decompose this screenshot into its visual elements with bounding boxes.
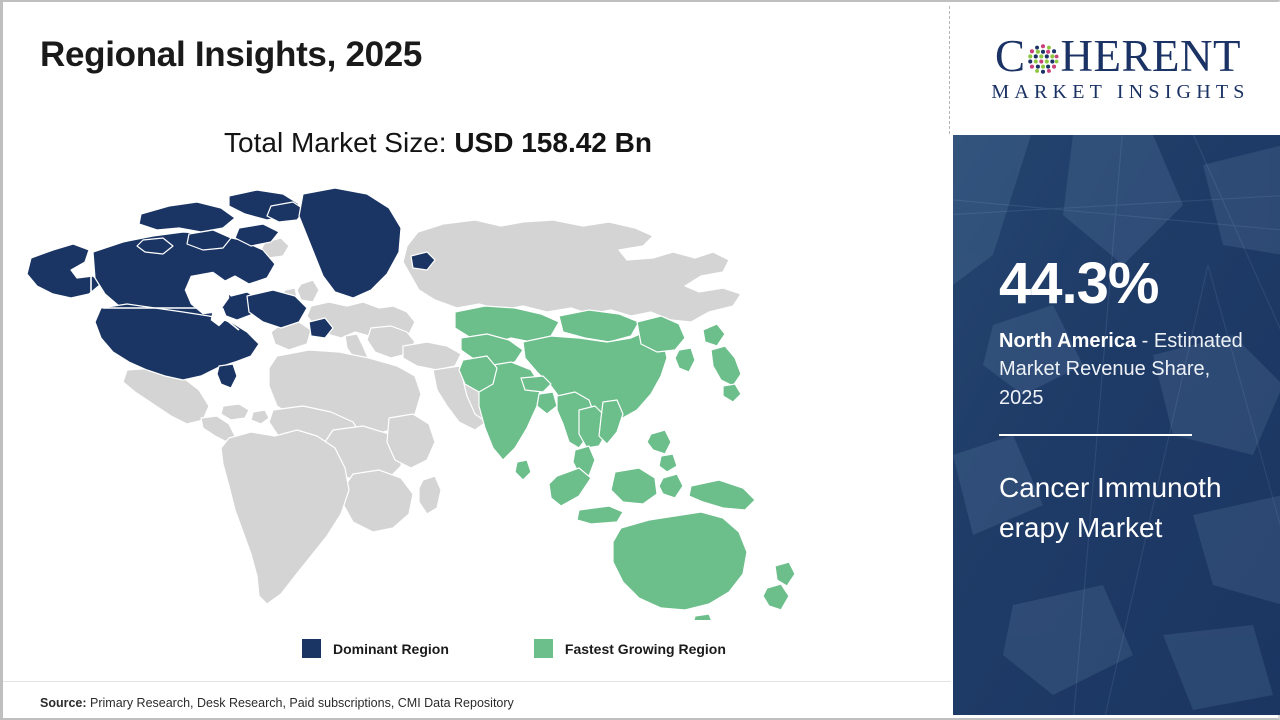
- logo-letter-c: C: [995, 34, 1026, 79]
- globe-dots-icon: [1026, 42, 1060, 76]
- infographic-canvas: Regional Insights, 2025 Total Market Siz…: [0, 0, 1280, 720]
- vertical-divider: [949, 6, 950, 134]
- market-size-label: Total Market Size:: [224, 127, 454, 158]
- source-line: Source: Primary Research, Desk Research,…: [40, 696, 514, 710]
- brand-logo: C: [953, 2, 1280, 135]
- map-legend: Dominant Region Fastest Growing Region: [302, 639, 726, 658]
- legend-label-fastest-growing: Fastest Growing Region: [565, 641, 726, 657]
- stat-region-name: North America: [999, 330, 1136, 352]
- market-name: Cancer Immunotherapy Market: [999, 468, 1237, 548]
- logo-wordmark: C: [995, 34, 1241, 80]
- stat-panel: 44.3% North America - Estimated Market R…: [953, 135, 1280, 715]
- page-title: Regional Insights, 2025: [40, 35, 422, 75]
- left-content-pane: Regional Insights, 2025 Total Market Siz…: [3, 2, 951, 718]
- market-size-value: USD 158.42 Bn: [454, 127, 652, 158]
- legend-swatch-dominant: [302, 639, 321, 658]
- total-market-size: Total Market Size: USD 158.42 Bn: [3, 127, 873, 159]
- map-region-asia-pacific: [455, 306, 795, 620]
- legend-label-dominant: Dominant Region: [333, 641, 449, 657]
- source-text: Primary Research, Desk Research, Paid su…: [87, 696, 514, 710]
- legend-item-dominant: Dominant Region: [302, 639, 449, 658]
- legend-swatch-fastest-growing: [534, 639, 553, 658]
- stat-description: North America - Estimated Market Revenue…: [999, 327, 1245, 412]
- legend-item-fastest-growing: Fastest Growing Region: [534, 639, 726, 658]
- stat-percentage: 44.3%: [999, 255, 1245, 313]
- source-label: Source:: [40, 696, 87, 710]
- stat-divider: [999, 434, 1192, 436]
- world-map: [23, 180, 853, 620]
- world-map-svg: [23, 180, 853, 620]
- logo-tagline: MARKET INSIGHTS: [986, 81, 1249, 104]
- logo-wordmark-text: HERENT: [1061, 34, 1241, 79]
- source-divider: [3, 681, 951, 682]
- stat-panel-content: 44.3% North America - Estimated Market R…: [999, 255, 1245, 548]
- map-region-north-america: [27, 188, 435, 388]
